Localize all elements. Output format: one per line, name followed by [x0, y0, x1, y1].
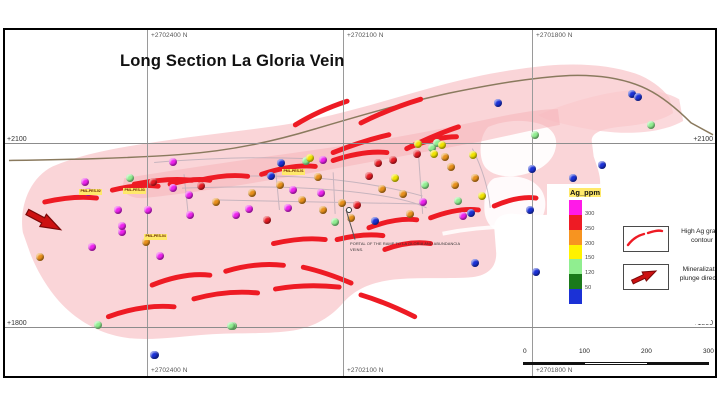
ramp-tick-200: 200	[585, 241, 594, 247]
legend-plunge-line2: plunge direction	[680, 275, 717, 282]
ramp-tick-250: 250	[585, 226, 594, 232]
legend-ag-title: Ag_ppm	[569, 188, 601, 197]
plunge-arrow-icon	[624, 265, 666, 287]
scale-seg-2	[585, 362, 647, 365]
map-canvas: +2702400 N +2702100 N +2701800 N +270240…	[5, 30, 715, 376]
dashed-contour-icon	[624, 227, 666, 249]
ag-color-ramp	[569, 200, 582, 304]
ramp-segment-4	[569, 259, 582, 274]
ramp-segment-5	[569, 274, 582, 289]
ramp-segment-3	[569, 245, 582, 260]
legend-plunge-swatch-box	[623, 264, 669, 290]
scale-seg-1	[523, 362, 585, 365]
ramp-tick-300: 300	[585, 211, 594, 217]
map-frame: +2702400 N +2702100 N +2701800 N +270240…	[3, 28, 717, 378]
ramp-segment-6	[569, 289, 582, 304]
legend-contour-line1: High Ag grade	[681, 228, 717, 235]
map-figure: N S	[0, 0, 720, 405]
legend-panel: Ag_ppm 30025020015012050 High Ag grade c…	[547, 184, 711, 324]
legend-contour-swatch-box	[623, 226, 669, 252]
scale-tick-100: 100	[579, 348, 590, 355]
legend-plunge-text: Mineralization plunge direction	[671, 266, 717, 284]
ramp-segment-0	[569, 200, 582, 215]
portal-annotation: PORTAL OF THE RAMP TO LA GLORIA AND ABUN…	[350, 241, 470, 253]
ramp-tick-120: 120	[585, 270, 594, 276]
scale-seg-3	[647, 362, 709, 365]
scale-tick-0: 0	[523, 348, 527, 355]
ramp-segment-2	[569, 230, 582, 245]
ramp-segment-1	[569, 215, 582, 230]
scale-tick-200: 200	[641, 348, 652, 355]
scale-tick-300: 300	[703, 348, 714, 355]
ramp-tick-150: 150	[585, 255, 594, 261]
legend-contour-line2: contour	[691, 237, 713, 244]
ramp-tick-50: 50	[585, 285, 591, 291]
legend-contour-text: High Ag grade contour	[671, 228, 717, 246]
legend-plunge-line1: Mineralization	[683, 266, 717, 273]
scale-bar: 0100200300	[523, 348, 709, 372]
